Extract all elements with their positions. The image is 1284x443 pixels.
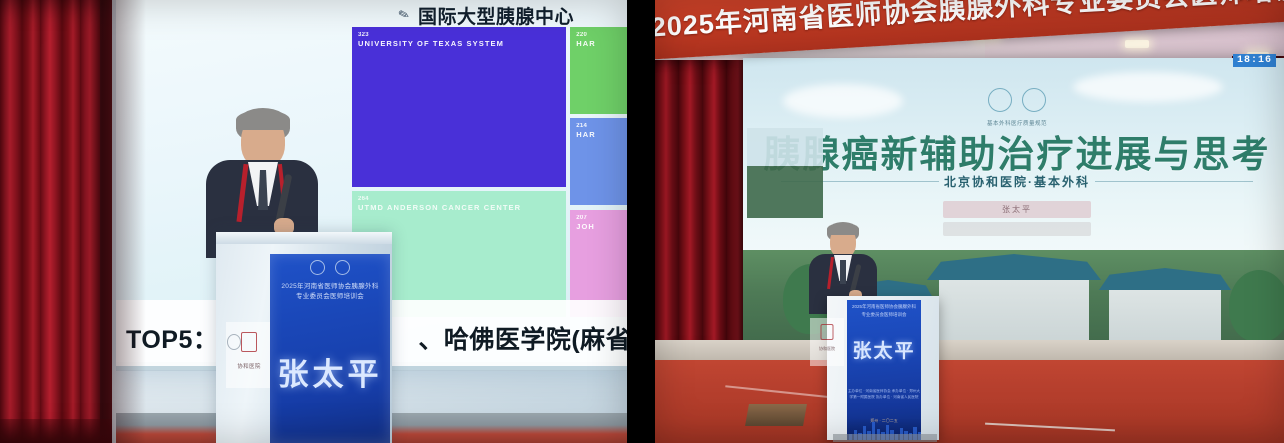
emblem-icon-2 [335, 260, 350, 275]
screen-emblems: 基本外科医疗质量规范 [969, 88, 1065, 127]
plaque-text-right: 协和医院 [810, 346, 844, 352]
emblem-icon-left [988, 88, 1012, 112]
podium-line-1: 2025年河南省医师协会胰腺外科 [270, 280, 390, 290]
treemap-value: 220 [576, 32, 587, 38]
stage-prop-box [745, 404, 807, 426]
podium-speaker-name-right: 张太平 [847, 336, 921, 363]
treemap-value: 323 [358, 32, 369, 38]
red-curtain-left [0, 0, 112, 443]
screen-tree-2 [1229, 270, 1284, 342]
composite-photo-pair: ✎ 国际大型胰腺中心 323UNIVERSITY OF TEXAS SYSTEM… [0, 0, 1284, 443]
red-curtain-stage-left [655, 60, 747, 360]
treemap-label: UNIVERSITY OF TEXAS SYSTEM [358, 39, 504, 48]
podium-top-surface [216, 232, 392, 244]
screen-building-main [939, 272, 1089, 350]
slide-heading: 国际大型胰腺中心 [418, 2, 574, 29]
treemap-tile: 323UNIVERSITY OF TEXAS SYSTEM [352, 27, 566, 187]
left-photo: ✎ 国际大型胰腺中心 323UNIVERSITY OF TEXAS SYSTEM… [0, 0, 627, 443]
screen-title: 胰腺癌新辅助治疗进展与思考 [743, 124, 1284, 178]
podium-line-2: 专业委员会医师培训会 [270, 290, 390, 300]
treemap-value: 214 [576, 123, 587, 129]
podium-speaker-name: 张太平 [270, 349, 390, 394]
podium-line-2-right: 专业委员会医师培训会 [847, 312, 921, 318]
plaque-text: 协和医院 [226, 362, 272, 370]
podium-line-1-right: 2025年河南省医师协会胰腺外科 [847, 304, 921, 310]
right-photo: 基本外科医疗质量规范 胰腺癌新辅助治疗进展与思考 北京协和医院·基本外科 张太平… [655, 0, 1284, 443]
curtain-shadow [100, 0, 146, 443]
emblem-icon-right [1022, 88, 1046, 112]
screen-speaker-box: 张太平 [943, 201, 1091, 218]
ceiling-light-3 [1125, 40, 1149, 48]
treemap-tile: 220HAR [570, 27, 627, 114]
screen-secondary-box [943, 222, 1091, 236]
timestamp-badge: 18:16 [1233, 54, 1276, 67]
stage-floor [655, 360, 1284, 443]
emblem-icon-1 [310, 260, 325, 275]
caption-tail: 、哈佛医学院(麻省 [418, 326, 627, 354]
hospital-seal-icon [227, 334, 241, 350]
podium-emblems [270, 260, 390, 280]
hospital-logo-icon [241, 332, 257, 352]
podium-display-left: 2025年河南省医师协会胰腺外科 专业委员会医师培训会 张太平 [270, 254, 390, 443]
treemap-label: JOH [576, 222, 595, 231]
podium-base-right [833, 434, 937, 442]
hospital-logo-icon-right [821, 324, 834, 340]
treemap-tile: 214HAR [570, 118, 627, 205]
treemap-label: UTMD ANDERSON CANCER CENTER [358, 203, 521, 212]
treemap-label: HAR [576, 39, 596, 48]
podium-plaque: 协和医院 [226, 322, 272, 388]
photo-divider [627, 0, 655, 443]
podium-plaque-right: 协和医院 [810, 318, 844, 366]
podium-display-right: 2025年河南省医师协会胰腺外科 专业委员会医师培训会 张太平 主办单位 · 河… [847, 300, 921, 440]
screen-subtitle: 北京协和医院·基本外科 [743, 173, 1284, 190]
curtain-base [0, 419, 112, 443]
treemap-label: HAR [576, 130, 596, 139]
treemap-value: 264 [358, 196, 369, 202]
treemap-value: 207 [576, 215, 587, 221]
side-led-screen [747, 128, 823, 218]
treemap-chart: 323UNIVERSITY OF TEXAS SYSTEM264UTMD AND… [352, 27, 627, 317]
podium-detail-lines: 主办单位 · 河南省医师协会 承办单位 · 郑州大学第一附属医院 协办单位 · … [847, 388, 921, 400]
